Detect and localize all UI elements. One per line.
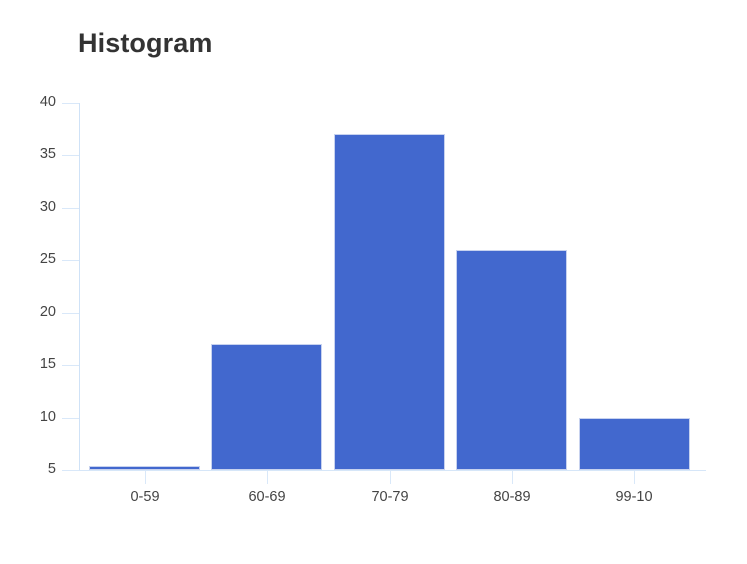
y-axis-label: 35 [0,147,56,161]
x-axis-label: 80-89 [493,489,530,506]
y-axis-tick [62,155,79,156]
x-axis-tick [267,471,268,484]
y-axis-label: 15 [0,357,56,371]
y-axis-line [79,103,80,471]
bar[interactable] [334,134,445,470]
bar[interactable] [579,418,690,470]
y-axis-label: 10 [0,410,56,424]
x-axis-tick [634,471,635,484]
y-axis-tick [62,260,79,261]
y-axis-label: 30 [0,200,56,214]
y-axis-label: 20 [0,305,56,319]
x-axis-tick [512,471,513,484]
y-axis-label: 25 [0,252,56,266]
histogram-chart: Histogram 403530252015105 0-5960-6970-79… [0,0,747,564]
chart-title: Histogram [78,26,212,60]
bar[interactable] [89,466,200,470]
y-axis-tick [62,470,79,471]
x-axis-label: 0-59 [130,489,159,506]
bar[interactable] [211,344,322,470]
x-axis-label: 70-79 [371,489,408,506]
x-axis-label: 99-10 [615,489,652,506]
x-axis-tick [390,471,391,484]
x-axis-line [79,470,706,471]
y-axis-tick [62,103,79,104]
y-axis-label: 5 [0,462,56,476]
bar[interactable] [456,250,567,470]
y-axis-tick [62,313,79,314]
x-axis-label: 60-69 [248,489,285,506]
y-axis-label: 40 [0,95,56,109]
x-axis-tick [145,471,146,484]
y-axis-tick [62,365,79,366]
y-axis-tick [62,208,79,209]
y-axis-tick [62,418,79,419]
